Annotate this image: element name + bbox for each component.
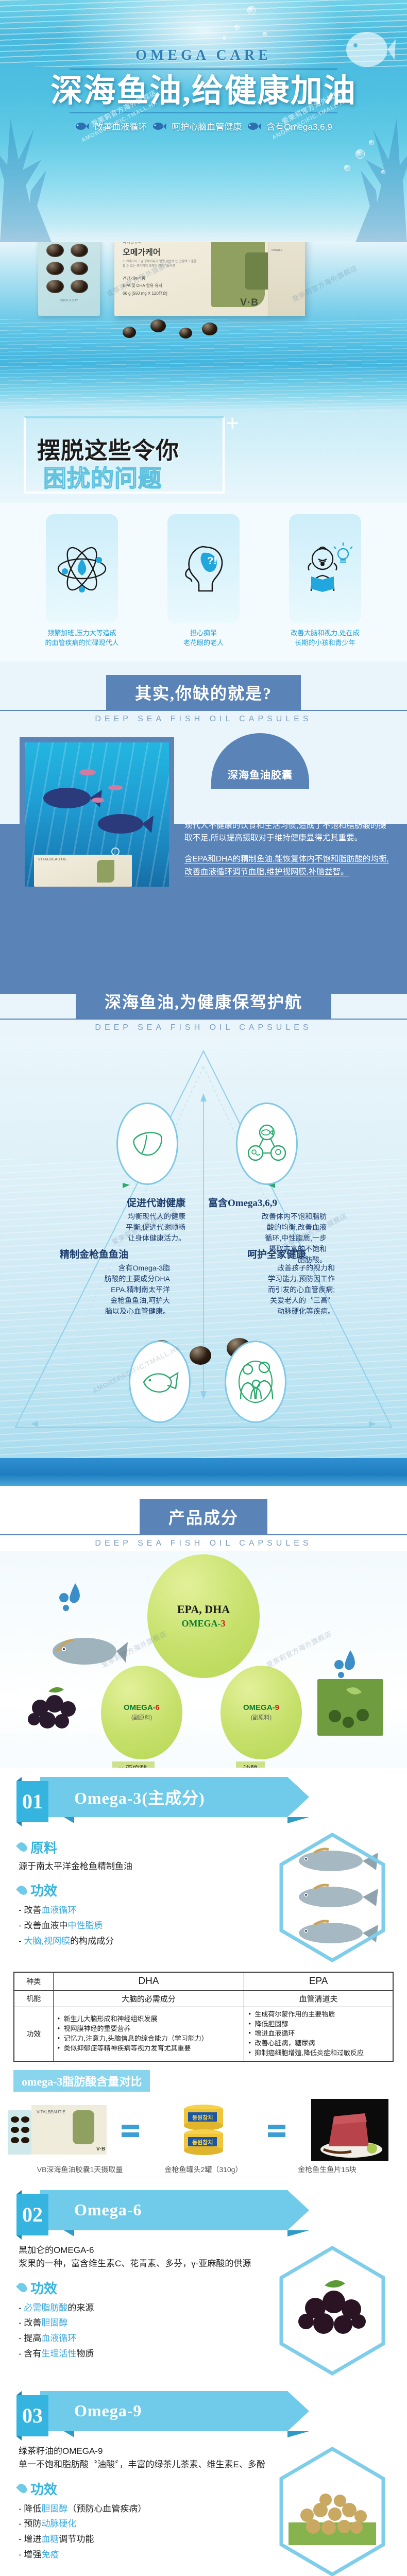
fish-icon [247,122,261,131]
product-shot-band: VITALBEAUTIE ONCE A DAY VITALBEAUTIE 바이탈… [0,242,407,412]
box-kr-name: 오메가케어 [123,245,161,258]
effect-item: - 改善血液循环 [19,1903,273,1918]
omega9-title: OMEGA-9 [243,1703,279,1712]
box-kr-desc: + 오메가의 고급 정제어유가 혈행 개선에 는 건강에 도움을 줄 수 있는 … [123,260,200,269]
svg-text:동원참치: 동원참치 [192,2114,213,2121]
section-subtitle: DEEP SEA FISH OIL CAPSULES [0,1539,407,1548]
hero-bullets: 改善血液循环 呵护心脑血管健康 含有Omega3,6,9 [0,120,407,132]
benefit-body: 均衡现代人的健康 平衡,促进代谢顺畅 让身体健康活力。 [67,1211,185,1244]
table-header-epa: EPA [244,1972,393,1991]
hexagon-outline [273,1831,392,1964]
omega9-section: 03 Omega-9 绿茶籽油的OMEGA-9 单一不饱和脂肪酸〝油酸〞，丰富的… [0,2382,407,2576]
omega3-hex-frame [273,1831,392,1964]
table-header-dha: DHA [53,1972,244,1991]
water-splash-icon [55,1580,91,1616]
list-item: 增进血液循环 [248,2029,388,2039]
arrow-fold-left [64,2230,74,2236]
section-underline [0,1534,407,1535]
omega6-effect-list: - 必需脂肪酸的来源 - 改善胆固醇 - 提高血液循环 - 含有生理活性物质 [19,2300,273,2362]
lack-dome-label: 深海鱼油胶囊 [211,733,309,789]
benefit-text-tuna: 精制金枪鱼鱼油 含有Omega-3脂 肪酸的主要成分DHA EPA,精制南太平洋… [52,1247,170,1317]
equals-sign [122,2125,139,2137]
effect-item: - 增强免疫 [19,2547,273,2563]
omega6-section: 02 Omega-6 黑加仑的OMEGA-6 浆果的一种，富含维生素C、花青素、… [0,2181,407,2382]
equals-sign [268,2125,285,2137]
lack-dome-text: 深海鱼油胶囊 [211,767,309,782]
section-title: 产品成分 [140,1499,267,1534]
list-item: 生成荷尔蒙作用的主要物质 [248,2010,388,2020]
family-icon [235,1360,276,1403]
omega6-arrow-banner: Omega-6 [40,2190,287,2230]
ingredients-header: 产品成分 DEEP SEA FISH OIL CAPSULES [0,1486,407,1551]
omega3-effect-label: 功效 [19,1880,273,1900]
arrow-tip [287,1777,309,1817]
plus-icon: + [226,412,239,435]
effect-item: - 改善血液中中性脂质 [19,1918,273,1934]
benefit-node-family [225,1341,286,1423]
table-row: 种类 DHA EPA [14,1972,393,1991]
water-surface [0,319,407,412]
capsule [46,244,64,257]
omega6-body: 黑加仑的OMEGA-6 浆果的一种，富含维生素C、花青素、多芬，γ-亚麻酸的供源… [0,2238,407,2378]
omega6-lead2: 浆果的一种，富含维生素C、花青素、多芬，γ-亚麻酸的供源 [19,2257,273,2270]
table-row-label: 机能 [14,1990,53,2007]
problem-heading-block: + 摆脱这些令你 困扰的问题 [0,412,407,503]
omega3-body: 原料 源于南太平洋金枪鱼精制鱼油 功效 - 改善血液循环 - 改善血液中中性脂质… [0,1824,407,1964]
effect-item: - 含有生理活性物质 [19,2346,273,2362]
product-box-photo: VITALBEAUTIE V·B [1,2099,114,2161]
bubble [369,140,374,145]
fish-icon [75,122,89,131]
table-cell-epa-effects: 生成荷尔蒙作用的主要物质 降低胆固醇 增进血液循环 改善心脏病，糖尿病 抑制癌细… [244,2007,393,2061]
arrow-fold-left [64,2431,74,2437]
omega6-title: OMEGA-6 [124,1703,160,1712]
section-title: 其实,你缺的就是? [106,675,301,710]
benefit-node-tuna [129,1341,191,1423]
table-cell-epa-function: 血管清道夫 [244,1990,393,2007]
omega3-header: 01 Omega-3(主成分) [16,1777,407,1824]
comparison-item-product: VITALBEAUTIE V·B [0,2099,114,2163]
omega9-lead1: 绿茶籽油的OMEGA-9 [19,2445,273,2458]
hero-bullet-text: 呵护心脑血管健康 [172,120,242,132]
hero-eyebrow: OMEGA CARE [0,47,407,64]
svg-text:동원참치: 동원참치 [192,2139,213,2146]
hero-bullet-text: 含有Omega3,6,9 [266,120,332,132]
svg-text:?!: ?! [207,555,217,567]
comparison-item-cans: 동원참치 동원참치 [146,2099,261,2163]
omega3-source-text: 源于南太平洋金枪鱼精制鱼油 [19,1860,273,1873]
water-splash-icon [330,1647,366,1683]
capsule [71,244,88,257]
omega3-title: EPA, DHA [177,1603,230,1616]
problem-cards: 频繁加班,压力大等造成 的血管疾病的忙碌现代人 ?! 担心痴呆 老花眼的老人 [0,503,407,662]
bubble [381,170,385,174]
benefit-heading: 呵护全家健康 [216,1247,335,1261]
arrow-tip [287,2391,309,2431]
benefit-text-metabolism: 促进代谢健康 均衡现代人的健康 平衡,促进代谢顺畅 让身体健康活力。 [67,1195,185,1244]
omega6-lead1: 黑加仑的OMEGA-6 [19,2244,273,2257]
loose-capsule [179,328,192,338]
section-underline [0,1019,407,1020]
effect-item: - 预防动脉硬化 [19,2516,273,2532]
product-box: VITALBEAUTIE 바이탈뷰티 오메가케어 + 오메가의 고급 정제어유가… [114,242,305,316]
omega6-ellipse: OMEGA-6 (副原料) [101,1666,182,1759]
box-kr-spec: 66 g [550 mg X 120캡슐] [123,290,167,297]
problem-card: 频繁加班,压力大等造成 的血管疾病的忙碌现代人 [28,514,136,648]
benefit-text-family: 呵护全家健康 改善孩子的视力和 学习能力,预防因工作 而引发的心血管疾病; 关爱… [216,1247,335,1317]
omega9-effect-list: - 降低胆固醇（预防心血管疾病） - 预防动脉硬化 - 增进血糖调节功能 - 增… [19,2501,273,2563]
hero-banner: OMEGA CARE 深海鱼油,给健康加油 改善血液循环 呵护心脑血管健康 含有… [0,0,407,242]
comparison-badge: omega-3脂肪酸含量对比 [13,2070,150,2092]
omega9-header: 03 Omega-9 [16,2391,407,2438]
hero-title: 深海鱼油,给健康加油 [0,74,407,109]
omega9-hex-frame [273,2445,392,2576]
box-kr-type: 건강기능식품 [123,275,167,282]
comparison-caption: VB深海鱼油胶囊1天摄取量 [21,2164,139,2175]
omega3-heading: Omega-3(主成分) [74,1785,205,1809]
molecule-icon [248,1124,286,1163]
lack-paragraph-1: 现代人不健康的饮食和生活习惯,造成了不饱和脂肪酸的摄取不足,所以提高摄取对于维持… [184,820,394,845]
omega6-header: 02 Omega-6 [16,2190,407,2238]
bubble [355,149,365,159]
icon-container [289,514,361,623]
lack-photo-frame: VITALBEAUTIE [20,737,174,892]
problem-card-caption: 担心痴呆 老花眼的老人 [149,629,258,648]
omega6-text: 黑加仑的OMEGA-6 浆果的一种，富含维生素C、花青素、多芬，γ-亚麻酸的供源… [19,2244,273,2378]
arrow-fold [287,1817,309,1823]
benefit-body: 改善孩子的视力和 学习能力,预防因工作 而引发的心血管疾病; 关爱老人的〝三高〞… [216,1263,335,1317]
hexagon-outline [273,2445,392,2576]
ingredients-diagram: EPA, DHA OMEGA-3 OMEGA-6 (副原料) γ-亚麻酸 OME… [0,1551,407,1768]
omega9-body: 绿茶籽油的OMEGA-9 单一不饱和脂肪酸〝油酸〞，丰富的绿茶儿茶素、维生素E、… [0,2438,407,2576]
benefit-diagram: 促进代谢健康 均衡现代人的健康 平衡,促进代谢顺畅 让身体健康活力。 富含Ome… [0,1036,407,1458]
omega6-number-badge: 02 [16,2194,48,2235]
tuna-photo [41,1613,129,1675]
problem-card: ?! 担心痴呆 老花眼的老人 [149,514,258,648]
box-vb-logo: V·B [240,297,259,309]
omega3-arrow-banner: Omega-3(主成分) [40,1777,287,1817]
tuna-sashimi-photo [311,2099,388,2161]
omega6-effect-label: 功效 [19,2278,273,2297]
child-reading-icon [298,541,352,596]
omega3-section: 01 Omega-3(主成分) 原料 源于南太平洋金枪鱼精制鱼油 功效 [0,1768,407,2181]
capsule [46,262,64,275]
table-row: 功效 新生儿大脑形成和神经组织发展 视网膜神经的重要营养 记忆力,注意力,头脑信… [14,2007,393,2061]
svg-text:V·B: V·B [96,2146,105,2152]
omega9-number-badge: 03 [16,2395,48,2436]
omega6-note: (副原料) [131,1713,152,1721]
problem-card-caption: 改善大脑和视力,处在成 长期的小孩和青少年 [271,629,379,648]
list-item: 记忆力,注意力,头脑信息的综合能力（学习能力） [58,2034,240,2044]
loose-capsule [202,323,217,335]
omega9-heading: Omega-9 [74,2401,142,2420]
arrow-fold [287,2230,309,2236]
icon-container [46,514,118,623]
arrow-fold [287,2431,309,2437]
arrow-tip [287,2190,309,2230]
tuna-can-photo: 동원참치 동원참치 [173,2099,234,2161]
problem-card-caption: 频繁加班,压力大等造成 的血管疾病的忙碌现代人 [28,629,136,648]
droplet-icon [16,2281,29,2294]
fish-icon [152,122,166,131]
benefit-node-omega369 [236,1103,298,1185]
omega3-ellipse: EPA, DHA OMEGA-3 [147,1554,260,1678]
underwater-photo: VITALBEAUTIE [25,742,169,887]
benefit-heading: 富含Omega3,6,9 [208,1195,327,1209]
once-a-day-label: ONCE A DAY [38,299,100,302]
lack-paragraph-2: 含EPA和DHA的精制鱼油,能恢复体内不饱和脂肪酸的均衡,改善血液循环调节血脂,… [184,853,394,879]
omega3-subtitle: OMEGA-3 [182,1618,226,1629]
list-item: 类似抑郁症等精神疾病等视力发育尤其重要 [58,2044,240,2054]
problem-frame: + 摆脱这些令你 困扰的问题 [24,416,225,494]
comparison-captions: VB深海鱼油胶囊1天摄取量 金枪鱼罐头2罐（310g） 金枪鱼生鱼片15块 [0,2164,407,2177]
list-item: 抑制癌细胞增殖,降低炎症和过敏反应 [248,2048,388,2058]
effect-item: - 增进血糖调节功能 [19,2532,273,2547]
omega9-text: 绿茶籽油的OMEGA-9 单一不饱和脂肪酸〝油酸〞，丰富的绿茶儿茶素、维生素E、… [19,2445,273,2576]
droplet-icon [16,2482,29,2495]
omega3-effect-list: - 改善血液循环 - 改善血液中中性脂质 - 大脑,视网膜的构成成分 [19,1903,273,1948]
droplet-icon [16,1884,29,1896]
loose-capsule [190,1346,211,1365]
effect-item: - 大脑,视网膜的构成成分 [19,1934,273,1949]
effect-item: - 降低胆固醇（预防心血管疾病） [19,2501,273,2517]
fish-icon [140,1368,180,1396]
lack-section: 其实,你缺的就是? DEEP SEA FISH OIL CAPSULES [0,662,407,981]
bubble [344,165,350,171]
icon-container: ?! [167,514,240,623]
arrow-fold-left [64,1817,74,1823]
blister-pack: VITALBEAUTIE ONCE A DAY [38,242,100,316]
capsule [71,280,88,293]
capsule [71,262,88,275]
box-side-panel: Omega-3EPA·DHA Omega-6Omega-9 [268,242,305,316]
section-underline [0,710,407,711]
lack-body: VITALBEAUTIE 深海鱼油胶囊 现代人不健康的饮食和生活习惯,造成了不饱… [0,727,407,892]
omega3-number-badge: 01 [16,1781,48,1822]
omega6-heading: Omega-6 [74,2200,142,2219]
effect-item: - 提高血液循环 [19,2331,273,2346]
effect-item: - 必需脂肪酸的来源 [19,2300,273,2316]
section-subtitle: DEEP SEA FISH OIL CAPSULES [0,1023,407,1032]
droplet-icon [16,1841,29,1854]
greentea-photo [317,1679,383,1736]
svg-text:VITALBEAUTIE: VITALBEAUTIE [37,2110,65,2114]
hero-divider-bottom [70,112,337,113]
omega3-text: 原料 源于南太平洋金枪鱼精制鱼油 功效 - 改善血液循环 - 改善血液中中性脂质… [19,1831,273,1964]
omega3-source-label: 原料 [19,1838,273,1857]
table-row-label: 种类 [14,1972,53,1991]
problem-line2: 困扰的问题 [43,460,162,493]
list-item: 新生儿大脑形成和神经组织发展 [58,2014,240,2024]
box-kr-claim: EPA 및 DHA 함유 유지 [123,282,167,290]
hexagon-outline [273,2244,392,2378]
problem-card: 改善大脑和视力,处在成 长期的小孩和青少年 [271,514,379,648]
comparison-row: VITALBEAUTIE V·B 동원참치 [0,2092,407,2164]
ingredients-section: 产品成分 DEEP SEA FISH OIL CAPSULES EPA, DHA… [0,1458,407,1768]
omega9-note: (副原料) [251,1713,272,1721]
section-header: 其实,你缺的就是? DEEP SEA FISH OIL CAPSULES [0,662,407,727]
benefit-body: 含有Omega-3脂 肪酸的主要成分DHA EPA,精制南太平洋 金枪鱼鱼油,呵… [52,1263,170,1317]
table-row-label: 功效 [14,2007,53,2061]
ingredients-top-band [0,1458,407,1486]
hero-bullet-text: 改善血液循环 [94,120,147,132]
capsule [46,280,64,293]
box-kr-small: 바이탈뷰티 [123,242,142,245]
omega9-effect-label: 功效 [19,2479,273,2498]
omega9-arrow-banner: Omega-9 [40,2391,287,2431]
omega9-lead2: 单一不饱和脂肪酸〝油酸〞，丰富的绿茶儿茶素、维生素E、多酚 [19,2458,273,2471]
comparison-caption: 金枪鱼罐头2罐（310g） [144,2164,263,2175]
effect-item: - 改善胆固醇 [19,2315,273,2331]
list-item: 降低胆固醇 [248,2020,388,2029]
atom-droplet-icon [55,541,109,596]
list-item: 视网膜神经的重要营养 [58,2024,240,2034]
lack-text-column: 深海鱼油胶囊 现代人不健康的饮食和生活习惯,造成了不饱和脂肪酸的摄取不足,所以提… [174,737,407,892]
comparison-item-sashimi [293,2099,407,2163]
omega6-hex-frame [273,2244,392,2378]
benefit-node-metabolism [116,1103,178,1185]
hero-divider-top [70,69,337,70]
benefit-heading: 促进代谢健康 [67,1195,185,1209]
table-cell-dha-function: 大脑的必需成分 [53,1990,244,2007]
section-subtitle: DEEP SEA FISH OIL CAPSULES [0,715,407,724]
watermark: 爱茉莉官方海外旗舰店 [264,1628,333,1669]
loose-capsule [123,327,136,338]
head-question-icon: ?! [176,541,231,596]
blackcurrant-photo [21,1679,87,1736]
table-cell-dha-effects: 新生儿大脑形成和神经组织发展 视网膜神经的重要营养 记忆力,注意力,头脑信息的综… [53,2007,244,2061]
loose-capsule [150,319,166,332]
liver-icon [129,1128,165,1160]
product-detail-page: OMEGA CARE 深海鱼油,给健康加油 改善血液循环 呵护心脑血管健康 含有… [0,0,407,2576]
inset-product-box: VITALBEAUTIE [34,855,132,887]
dha-epa-table: 种类 DHA EPA 机能 大脑的必需成分 血管清道夫 功效 新生儿大脑形成和神… [13,1972,394,2062]
benefit-heading: 精制金枪鱼鱼油 [52,1247,170,1261]
omega9-ellipse: OMEGA-9 (副原料) [221,1666,302,1759]
table-row: 机能 大脑的必需成分 血管清道夫 [14,1990,393,2007]
comparison-caption: 金枪鱼生鱼片15块 [268,2164,386,2175]
list-item: 改善心脏病，糖尿病 [248,2039,388,2048]
